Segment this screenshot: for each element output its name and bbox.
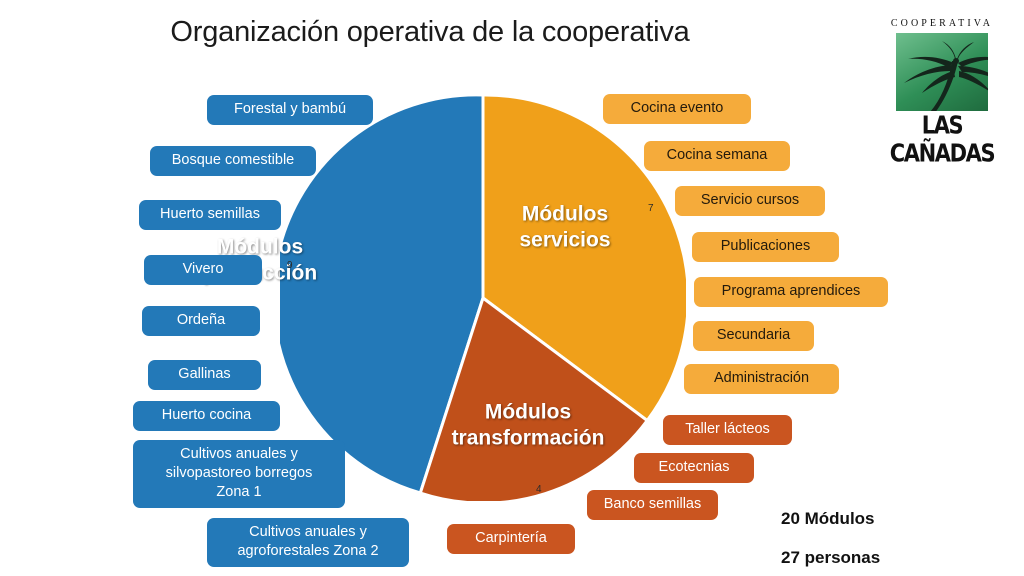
module-chip-carpinteria[interactable]: Carpintería (447, 524, 575, 554)
module-chip-huerto-semillas[interactable]: Huerto semillas (139, 200, 281, 230)
module-chip-huerto-cocina[interactable]: Huerto cocina (133, 401, 280, 431)
module-chip-publicaciones[interactable]: Publicaciones (692, 232, 839, 262)
module-chip-programa-aprendices[interactable]: Programa aprendices (694, 277, 888, 307)
module-chip-servicio-cursos[interactable]: Servicio cursos (675, 186, 825, 216)
stat-total-modulos: 20 Módulos (781, 509, 875, 529)
logo-green-panel (896, 33, 988, 111)
cooperativa-logo: COOPERATIVA LAS CAÑADAS (878, 18, 1006, 142)
module-chip-gallinas[interactable]: Gallinas (148, 360, 261, 390)
module-chip-banco-semillas[interactable]: Banco semillas (587, 490, 718, 520)
module-chip-vivero[interactable]: Vivero (144, 255, 262, 285)
module-chip-cultivos-zona-2[interactable]: Cultivos anuales y agroforestales Zona 2 (207, 518, 409, 567)
module-chip-secundaria[interactable]: Secundaria (693, 321, 814, 351)
module-chip-cultivos-zona-1[interactable]: Cultivos anuales y silvopastoreo borrego… (133, 440, 345, 508)
logo-bottom-text: LAS CAÑADAS (878, 111, 1006, 168)
module-chip-bosque-comestible[interactable]: Bosque comestible (150, 146, 316, 176)
palm-tree-icon (896, 41, 988, 111)
module-chip-ordena[interactable]: Ordeña (142, 306, 260, 336)
module-chip-forestal-y-bambu[interactable]: Forestal y bambú (207, 95, 373, 125)
logo-top-text: COOPERATIVA (878, 18, 1006, 29)
module-chip-taller-lacteos[interactable]: Taller lácteos (663, 415, 792, 445)
module-chip-cocina-semana[interactable]: Cocina semana (644, 141, 790, 171)
module-chip-cocina-evento[interactable]: Cocina evento (603, 94, 751, 124)
module-chip-administracion[interactable]: Administración (684, 364, 839, 394)
page-title: Organización operativa de la cooperativa (0, 16, 860, 49)
module-chip-ecotecnias[interactable]: Ecotecnias (634, 453, 754, 483)
stat-total-personas: 27 personas (781, 548, 880, 568)
